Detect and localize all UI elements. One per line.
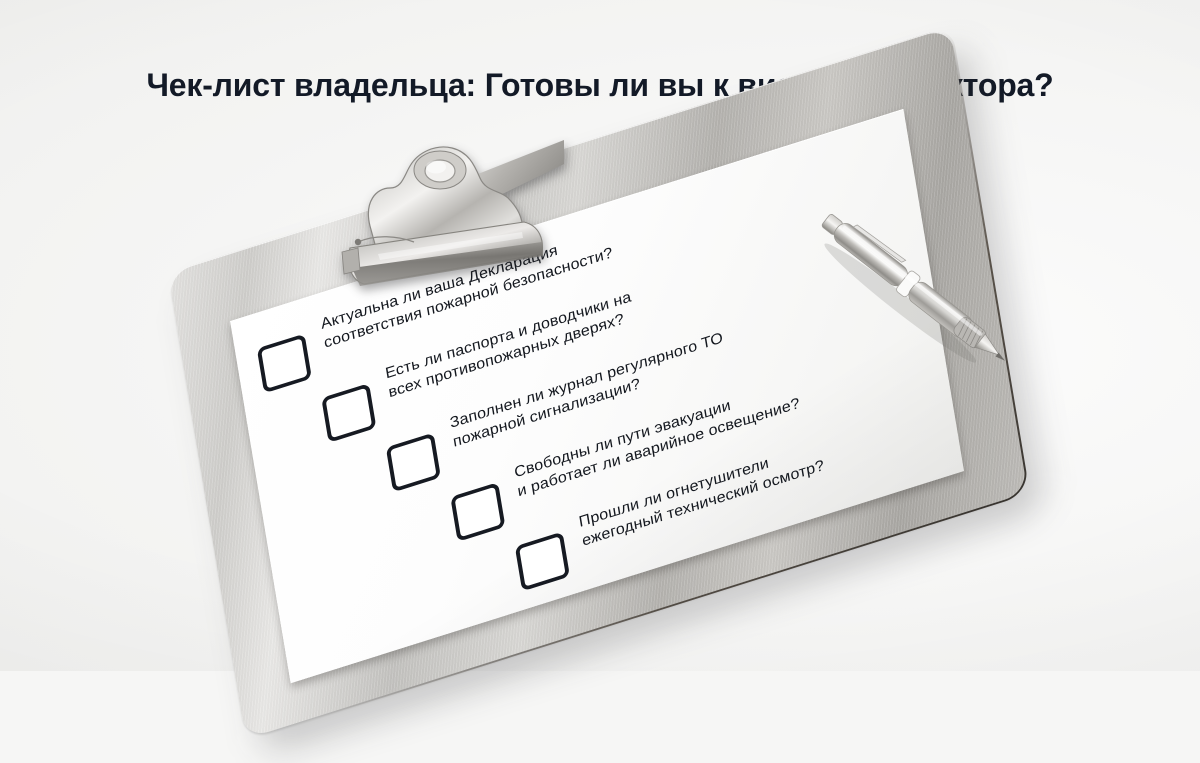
- checkbox-4[interactable]: [450, 482, 505, 542]
- scene-background: Чек-лист владельца: Готовы ли вы к визит…: [0, 0, 1200, 671]
- clip-ring-highlight: [426, 161, 446, 174]
- clip-pivot-pin: [355, 239, 361, 245]
- checkbox-3[interactable]: [386, 433, 441, 493]
- checkbox-5[interactable]: [515, 532, 570, 592]
- page-title: Чек-лист владельца: Готовы ли вы к визит…: [0, 67, 1200, 104]
- checkbox-2[interactable]: [321, 383, 376, 443]
- clipboard-clip: [328, 130, 564, 290]
- clip-left-tab: [342, 248, 360, 274]
- checkbox-1[interactable]: [257, 334, 312, 394]
- ballpoint-pen: [784, 182, 1034, 392]
